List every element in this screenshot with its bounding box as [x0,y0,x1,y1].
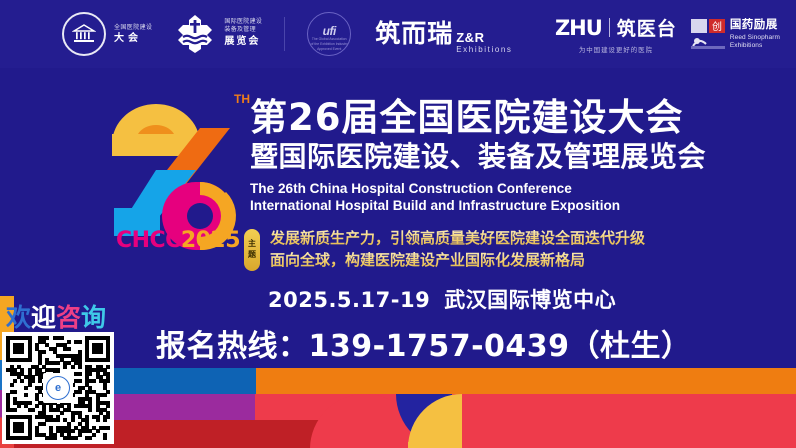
ufi-approved-event-icon: ufi The Global Association of the Exhibi… [307,12,351,56]
title-block: 第26届全国医院建设大会 暨国际医院建设、装备及管理展览会 The 26th C… [250,98,790,214]
reed-chinese-name: 国药励展 [730,19,780,32]
registration-hotline[interactable]: 报名热线：139-1757-0439（杜生） [156,321,692,365]
bottom-color-bar [0,368,796,448]
chcc-wordmark: CHCC2025 [98,228,258,253]
reed-english-line-1: Reed Sinopharm [730,34,780,41]
chcc-letters: CHCC [116,228,181,253]
zhu-mark-text: ZHU [555,16,602,40]
conference-logo-caption: 全国医院建设 大会 [114,25,152,44]
exhibition-logo-caption: 国际医院建设 装备及管理 展览会 [224,19,262,49]
top-logo-strip: 全国医院建设 大会 国际医院建设 装备及管理 展览会 ufi [0,0,796,68]
svg-text:创: 创 [712,20,722,33]
logo26-superscript: TH [234,92,250,106]
reed-emblem-glyph-icon: 创 [691,19,725,49]
main-title-cn-line-2: 暨国际医院建设、装备及管理展览会 [250,140,790,174]
building-glyph-icon [72,24,96,44]
bar-yellow-tail [408,442,462,448]
theme-badge-char-1: 主 [248,239,256,250]
date-venue-line: 2025.5.17-19武汉国际博览中心 [268,284,616,314]
qr-code-canvas: e [6,336,110,440]
theme-lines: 发展新质生产力，引领高质量美好医院建设全面迭代升级 面向全球，构建医院建设产业国… [270,228,645,272]
theme-badge: 主 题 [244,229,260,271]
exhibition-logo-big-text: 展览会 [224,36,262,49]
chcc-year: 2025 [181,228,240,253]
main-title-en-block: The 26th China Hospital Construction Con… [250,180,790,215]
zhu-tagline: 为中国建设更好的医院 [579,44,653,54]
ufi-caption-line-3: Approved Event [317,47,341,51]
zr-english-block: Z&R Exhibitions [456,31,512,54]
poster-canvas: 全国医院建设 大会 国际医院建设 装备及管理 展览会 ufi [0,0,796,448]
qr-consult-panel: 欢迎咨询 e [0,296,116,448]
qr-center-glyph: e [46,376,70,400]
ufi-caption: The Global Association of the Exhibition… [308,37,350,52]
logo-divider [284,17,285,51]
snowflake-glyph-icon [174,14,216,54]
main-title-cn-line-1: 第26届全国医院建设大会 [250,98,790,138]
welcome-char-4: 询 [81,303,106,332]
welcome-char-3: 咨 [56,303,81,332]
snowflake-cross-emblem-icon [174,14,216,54]
ufi-caption-line-1: The Global Association [312,37,347,41]
reed-text-block: 国药励展 Reed Sinopharm Exhibitions [730,19,780,49]
ufi-mark-text: ufi [308,24,350,38]
theme-block: 主 题 发展新质生产力，引领高质量美好医院建设全面迭代升级 面向全球，构建医院建… [244,228,645,272]
main-title-en-line-1: The 26th China Hospital Construction Con… [250,180,790,197]
reed-english-line-2: Exhibitions [730,42,780,49]
classical-building-emblem-icon [62,12,106,56]
exhibition-logo-small-text-2: 装备及管理 [224,27,262,35]
zhu-separator [609,18,610,37]
welcome-consult-text: 欢迎咨询 [6,298,106,334]
zhu-platform-logo: ZHU 筑医台 为中国建设更好的医院 [555,14,677,54]
zr-exhibitions-logo: 筑而瑞 Z&R Exhibitions [375,14,512,54]
zr-english-sub: Exhibitions [456,46,512,54]
zhu-logo-row: ZHU 筑医台 [555,14,677,41]
left-logo-group: 全国医院建设 大会 国际医院建设 装备及管理 展览会 ufi [62,12,513,56]
right-logo-group: ZHU 筑医台 为中国建设更好的医院 创 [555,14,780,54]
event-date: 2025.5.17-19 [268,288,430,312]
theme-badge-char-2: 题 [248,250,256,261]
zr-english-name: Z&R [456,31,512,44]
zhu-chinese-name: 筑医台 [617,14,677,41]
conference-logo-small-text: 全国医院建设 [114,25,152,31]
zr-chinese-name: 筑而瑞 [375,14,453,50]
main-title-en-line-2: International Hospital Build and Infrast… [250,197,790,214]
theme-line-2: 面向全球，构建医院建设产业国际化发展新格局 [270,250,645,272]
welcome-char-2: 迎 [31,303,56,332]
reed-sinopharm-logo: 创 国药励展 Reed Sinopharm Exhibitions [691,19,780,49]
qr-code[interactable]: e [2,332,114,444]
theme-line-1: 发展新质生产力，引领高质量美好医院建设全面迭代升级 [270,228,645,250]
conference-logo-big-text: 大会 [114,34,152,44]
exhibition-logo-small-text-1: 国际医院建设 [224,19,262,27]
qr-center-logo: e [43,373,73,403]
ufi-caption-line-2: of the Exhibition Industry [311,42,348,46]
event-venue: 武汉国际博览中心 [444,288,616,312]
reed-sinopharm-emblem-icon: 创 [691,19,725,49]
welcome-char-1: 欢 [6,303,31,332]
